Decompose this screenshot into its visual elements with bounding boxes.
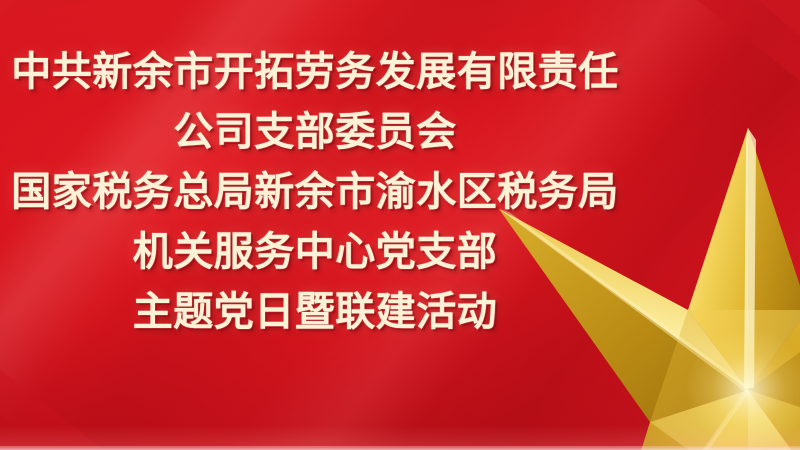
title-line-4: 机关服务中心党支部 xyxy=(0,222,630,282)
title-line-5: 主题党日暨联建活动 xyxy=(0,282,630,342)
title-line-1: 中共新余市开拓劳务发展有限责任 xyxy=(0,42,630,102)
title-block: 中共新余市开拓劳务发展有限责任 公司支部委员会 国家税务总局新余市渝水区税务局 … xyxy=(0,42,630,342)
banner-slide: 中共新余市开拓劳务发展有限责任 公司支部委员会 国家税务总局新余市渝水区税务局 … xyxy=(0,0,800,450)
bottom-light-rim xyxy=(0,446,800,450)
title-line-2: 公司支部委员会 xyxy=(0,102,630,162)
bottom-soft-light xyxy=(0,425,800,447)
title-line-3: 国家税务总局新余市渝水区税务局 xyxy=(0,162,630,222)
